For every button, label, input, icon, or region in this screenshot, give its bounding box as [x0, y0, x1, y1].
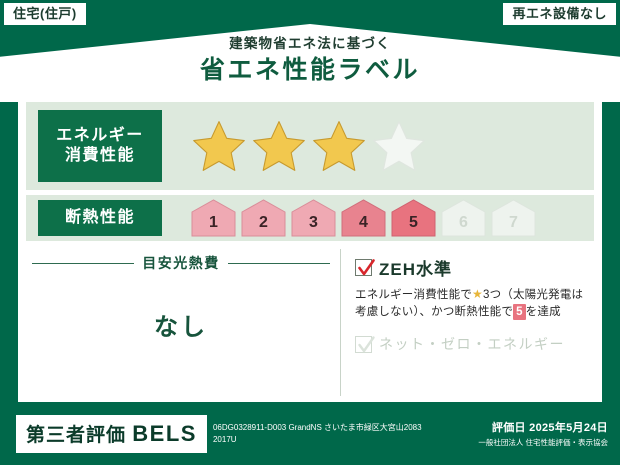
grade-value: 5: [409, 214, 418, 237]
star-icon-empty: [370, 118, 428, 174]
bels-label: BELS: [132, 421, 197, 446]
nze-checkbox[interactable]: [355, 336, 372, 353]
zeh-title: ZEH水準: [379, 255, 452, 280]
nze-label: ネット・ゼロ・エネルギー: [379, 334, 565, 354]
certificate-info: 06DG0328911-D003 GrandNS さいたま市緑区大宮山2083 …: [213, 422, 478, 446]
certificate-line-1: 06DG0328911-D003 GrandNS さいたま市緑区大宮山2083: [213, 422, 478, 434]
energy-label-line1: エネルギー: [56, 126, 144, 146]
nze-check-line: ネット・ゼロ・エネルギー: [355, 334, 590, 354]
grade-value: 4: [359, 214, 368, 237]
insulation-grade-scale: 1 2 3 4: [190, 199, 537, 237]
zeh-note-grade: 5: [513, 304, 526, 321]
star-icon: [250, 118, 308, 174]
insulation-grade-badge: 5: [390, 199, 437, 237]
insulation-grade-badge: 6: [440, 199, 487, 237]
zeh-note-part4: を達成: [526, 306, 561, 318]
zeh-note-part1: エネルギー消費性能で: [355, 289, 472, 301]
insulation-grade-badge: 2: [240, 199, 287, 237]
utility-cost-panel: 目安光熱費 なし: [26, 247, 336, 402]
zeh-panel: ZEH水準 エネルギー消費性能で★3つ（太陽光発電は考慮しない）、かつ断熱性能で…: [349, 247, 594, 402]
insulation-grade-badge: 1: [190, 199, 237, 237]
grade-value: 2: [259, 214, 268, 237]
evaluation-date: 評価日 2025年5月24日: [478, 419, 608, 435]
energy-label-line2: 消費性能: [65, 146, 135, 166]
star-rating: [190, 118, 428, 174]
evaluation-date-block: 評価日 2025年5月24日 一般社団法人 住宅性能評価・表示協会: [478, 419, 612, 448]
energy-performance-row: エネルギー 消費性能: [26, 102, 594, 190]
energy-performance-label: 住宅(住戸) 再エネ設備なし 建築物省エネ法に基づく 省エネ性能ラベル エネルギ…: [0, 0, 620, 465]
energy-performance-label-box: エネルギー 消費性能: [38, 110, 162, 182]
certificate-line-2: 2017U: [213, 434, 478, 446]
insulation-grade-badge: 3: [290, 199, 337, 237]
renewable-equipment-badge: 再エネ設備なし: [503, 3, 616, 25]
utility-cost-heading: 目安光熱費: [26, 253, 336, 273]
panel-divider: [340, 249, 341, 396]
roof-shape: [0, 24, 620, 102]
utility-cost-value: なし: [26, 307, 336, 342]
utility-cost-heading-text: 目安光熱費: [142, 253, 220, 273]
heading-rule-right: [228, 263, 330, 264]
bels-badge: 第三者評価 BELS: [16, 415, 207, 453]
insulation-performance-label-box: 断熱性能: [38, 200, 162, 236]
third-party-label: 第三者評価: [26, 425, 126, 446]
grade-value: 7: [509, 214, 518, 237]
star-icon: [310, 118, 368, 174]
insulation-performance-row: 断熱性能 1 2 3: [26, 195, 594, 241]
zeh-note: エネルギー消費性能で★3つ（太陽光発電は考慮しない）、かつ断熱性能で5を達成: [355, 286, 590, 320]
insulation-grade-badge: 7: [490, 199, 537, 237]
bottom-panels: 目安光熱費 なし ZEH水準 エネルギー消費性能で★3つ（太陽光発電は考慮し: [26, 247, 594, 402]
heading-rule-left: [32, 263, 134, 264]
zeh-note-part2: 3つ（太陽光発電: [483, 289, 572, 301]
label-card: エネルギー 消費性能 断熱性能: [18, 96, 602, 402]
building-type-badge: 住宅(住戸): [4, 3, 86, 25]
insulation-grade-badge: 4: [340, 199, 387, 237]
grade-value: 1: [209, 214, 218, 237]
zeh-checkbox[interactable]: [355, 259, 372, 276]
grade-value: 6: [459, 214, 468, 237]
star-icon: [190, 118, 248, 174]
check-icon: [357, 335, 376, 356]
bels-footer-bar: 第三者評価 BELS 06DG0328911-D003 GrandNS さいたま…: [0, 402, 620, 465]
grade-value: 3: [309, 214, 318, 237]
check-icon: [357, 258, 376, 279]
zeh-check-line: ZEH水準: [355, 255, 590, 280]
zeh-note-star-icon: ★: [472, 287, 483, 301]
issuer-name: 一般社団法人 住宅性能評価・表示協会: [478, 437, 608, 448]
